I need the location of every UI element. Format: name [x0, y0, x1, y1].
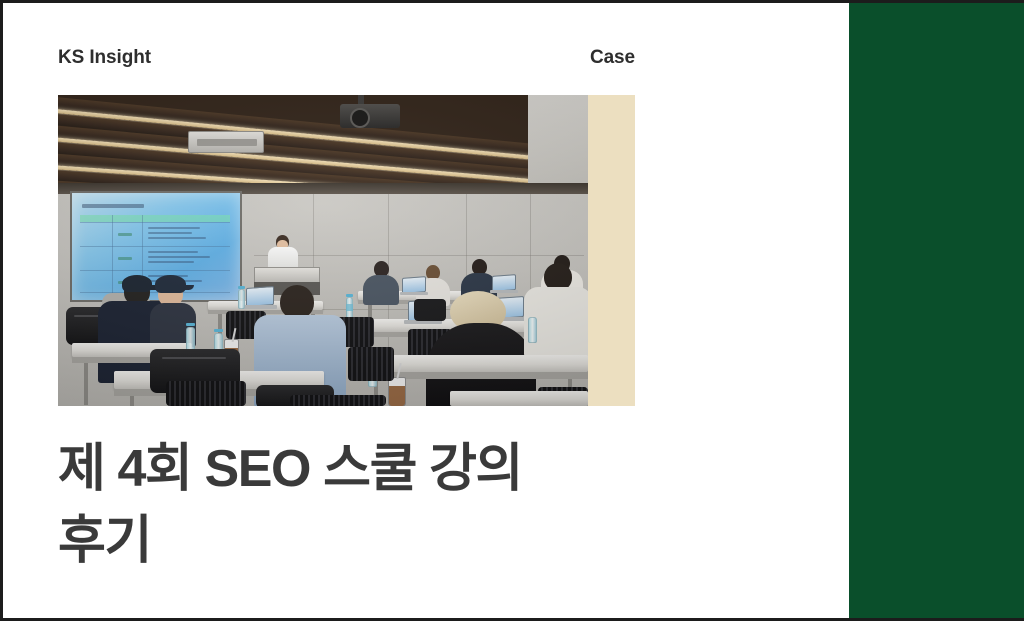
chair	[414, 299, 446, 321]
accent-side-panel	[849, 3, 1024, 618]
slide-header-row	[80, 215, 230, 222]
water-bottle	[528, 317, 537, 343]
attendee-body	[363, 275, 399, 305]
lecture-room-scene	[58, 95, 588, 406]
slide-text-line	[148, 227, 200, 229]
water-bottle	[238, 289, 245, 309]
slide-table-row	[80, 292, 230, 293]
laptop-base	[490, 290, 518, 293]
air-conditioner-cassette	[188, 131, 264, 153]
navy-cap	[155, 275, 186, 293]
wall-seam	[254, 255, 584, 256]
chair	[290, 395, 386, 406]
laptop-base	[243, 305, 277, 309]
ceiling-projector	[340, 104, 400, 128]
page-title: 제 4회 SEO 스쿨 강의 후기	[58, 433, 658, 577]
ceiling-right-soffit	[528, 95, 588, 190]
hero-photo	[58, 95, 588, 406]
section-tag-label: Case	[590, 47, 635, 69]
hero-accent-strip	[588, 95, 635, 406]
slide-text-line	[148, 261, 194, 263]
slide-table-row	[80, 246, 230, 247]
slide-label	[118, 257, 132, 260]
slide-text-line	[148, 256, 210, 258]
wooden-slat-ceiling	[58, 95, 588, 190]
slide-label	[118, 233, 132, 236]
laptop-base	[400, 292, 428, 295]
desk-leg	[84, 363, 88, 405]
bottle-cap	[186, 323, 195, 326]
laptop	[246, 286, 274, 307]
chair	[348, 347, 394, 381]
bottle-cap	[214, 329, 223, 332]
slide-text-line	[148, 251, 198, 253]
brand-label: KS Insight	[58, 47, 151, 69]
slide-root: KS Insight Case	[0, 0, 1024, 621]
attendee-head	[280, 285, 314, 319]
black-cap	[122, 275, 152, 292]
bottle-cap	[238, 286, 245, 289]
slide-table-row	[80, 270, 230, 271]
desk	[450, 391, 588, 406]
slide-table-row	[80, 222, 230, 223]
chair	[166, 381, 246, 406]
slide-card: KS Insight Case	[3, 3, 849, 618]
slide-header: KS Insight Case	[58, 43, 635, 73]
bottle-label	[346, 304, 353, 311]
slide-table-column	[112, 215, 113, 294]
cap-brim	[178, 285, 194, 290]
iced-coffee-cup	[388, 377, 406, 406]
slide-text-line	[148, 237, 206, 239]
backpack-strap	[162, 357, 226, 359]
slide-title-bar	[82, 204, 144, 208]
desk-leg	[130, 396, 134, 406]
hero-band	[58, 95, 635, 406]
slide-text-line	[148, 232, 192, 234]
bottle-cap	[346, 294, 353, 297]
